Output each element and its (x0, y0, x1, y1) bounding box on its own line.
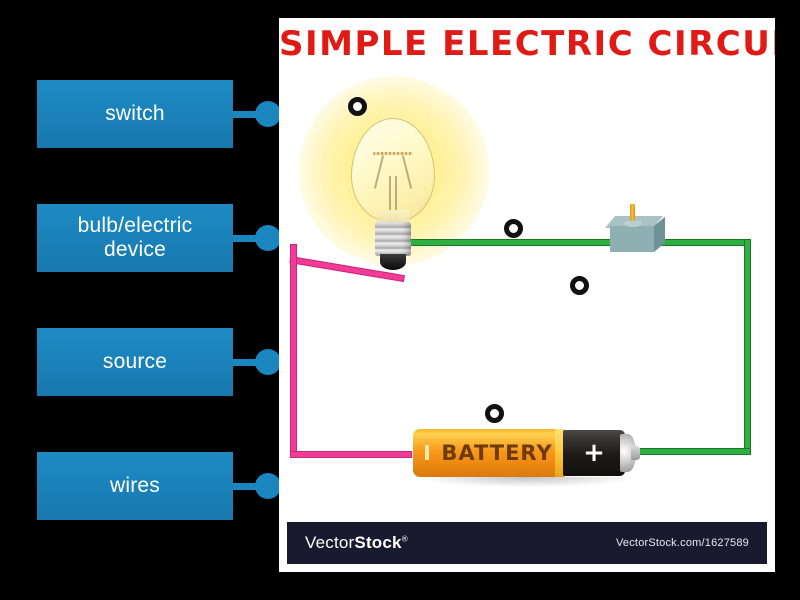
wire-pink-left (290, 244, 297, 458)
logo-suffix: Stock (354, 533, 401, 552)
watermark-url: VectorStock.com/1627589 (616, 537, 749, 549)
draggable-label-switch[interactable]: switch (37, 80, 233, 148)
bulb-filament (373, 152, 413, 155)
battery-component: BATTERY + (413, 429, 641, 489)
wire-green-top (391, 239, 751, 246)
diagram-title: SIMPLE ELECTRIC CIRCUIT (279, 24, 775, 64)
battery-shadow (419, 477, 634, 487)
diagram-panel: SIMPLE ELECTRIC CIRCUIT (279, 18, 775, 572)
drop-target-wires[interactable] (570, 276, 589, 295)
switch-lever-icon[interactable] (630, 204, 635, 221)
toggle-switch-component (610, 216, 670, 258)
battery-label: BATTERY (439, 429, 555, 477)
battery-positive-marker: + (563, 430, 625, 476)
label-connector-bulb-device (233, 231, 281, 245)
drop-target-source[interactable] (485, 404, 504, 423)
watermark-bar: VectorStock® VectorStock.com/1627589 (287, 522, 767, 564)
app-stage: switch bulb/electric device source wires… (0, 0, 800, 600)
wire-pink-bottom (290, 451, 412, 458)
battery-negative-marker (425, 445, 429, 460)
switch-knob-base (624, 220, 642, 227)
label-row-bulb-device: bulb/electric device (0, 204, 280, 274)
connector-dot-icon[interactable] (255, 473, 281, 499)
bulb-contact-tip (380, 254, 406, 270)
wire-green-right (744, 239, 751, 455)
bulb-glass (351, 118, 435, 222)
label-row-wires: wires (0, 452, 280, 522)
connector-dot-icon[interactable] (255, 349, 281, 375)
label-row-switch: switch (0, 80, 280, 150)
switch-front-face (610, 226, 654, 252)
logo-prefix: Vector (305, 533, 354, 552)
light-bulb-component (351, 118, 443, 273)
label-connector-source (233, 355, 281, 369)
drop-target-switch[interactable] (504, 219, 523, 238)
connector-dot-icon[interactable] (255, 225, 281, 251)
draggable-label-bulb-device[interactable]: bulb/electric device (37, 204, 233, 272)
bulb-screw-base (375, 222, 411, 256)
label-row-source: source (0, 328, 280, 398)
registered-mark: ® (402, 534, 408, 543)
wire-green-bottom (623, 448, 751, 455)
label-connector-switch (233, 107, 281, 121)
draggable-label-wires[interactable]: wires (37, 452, 233, 520)
battery-terminal-nub (631, 446, 640, 460)
connector-dot-icon[interactable] (255, 101, 281, 127)
drop-target-bulb[interactable] (348, 97, 367, 116)
vectorstock-logo: VectorStock® (305, 533, 408, 553)
label-connector-wires (233, 479, 281, 493)
draggable-label-source[interactable]: source (37, 328, 233, 396)
